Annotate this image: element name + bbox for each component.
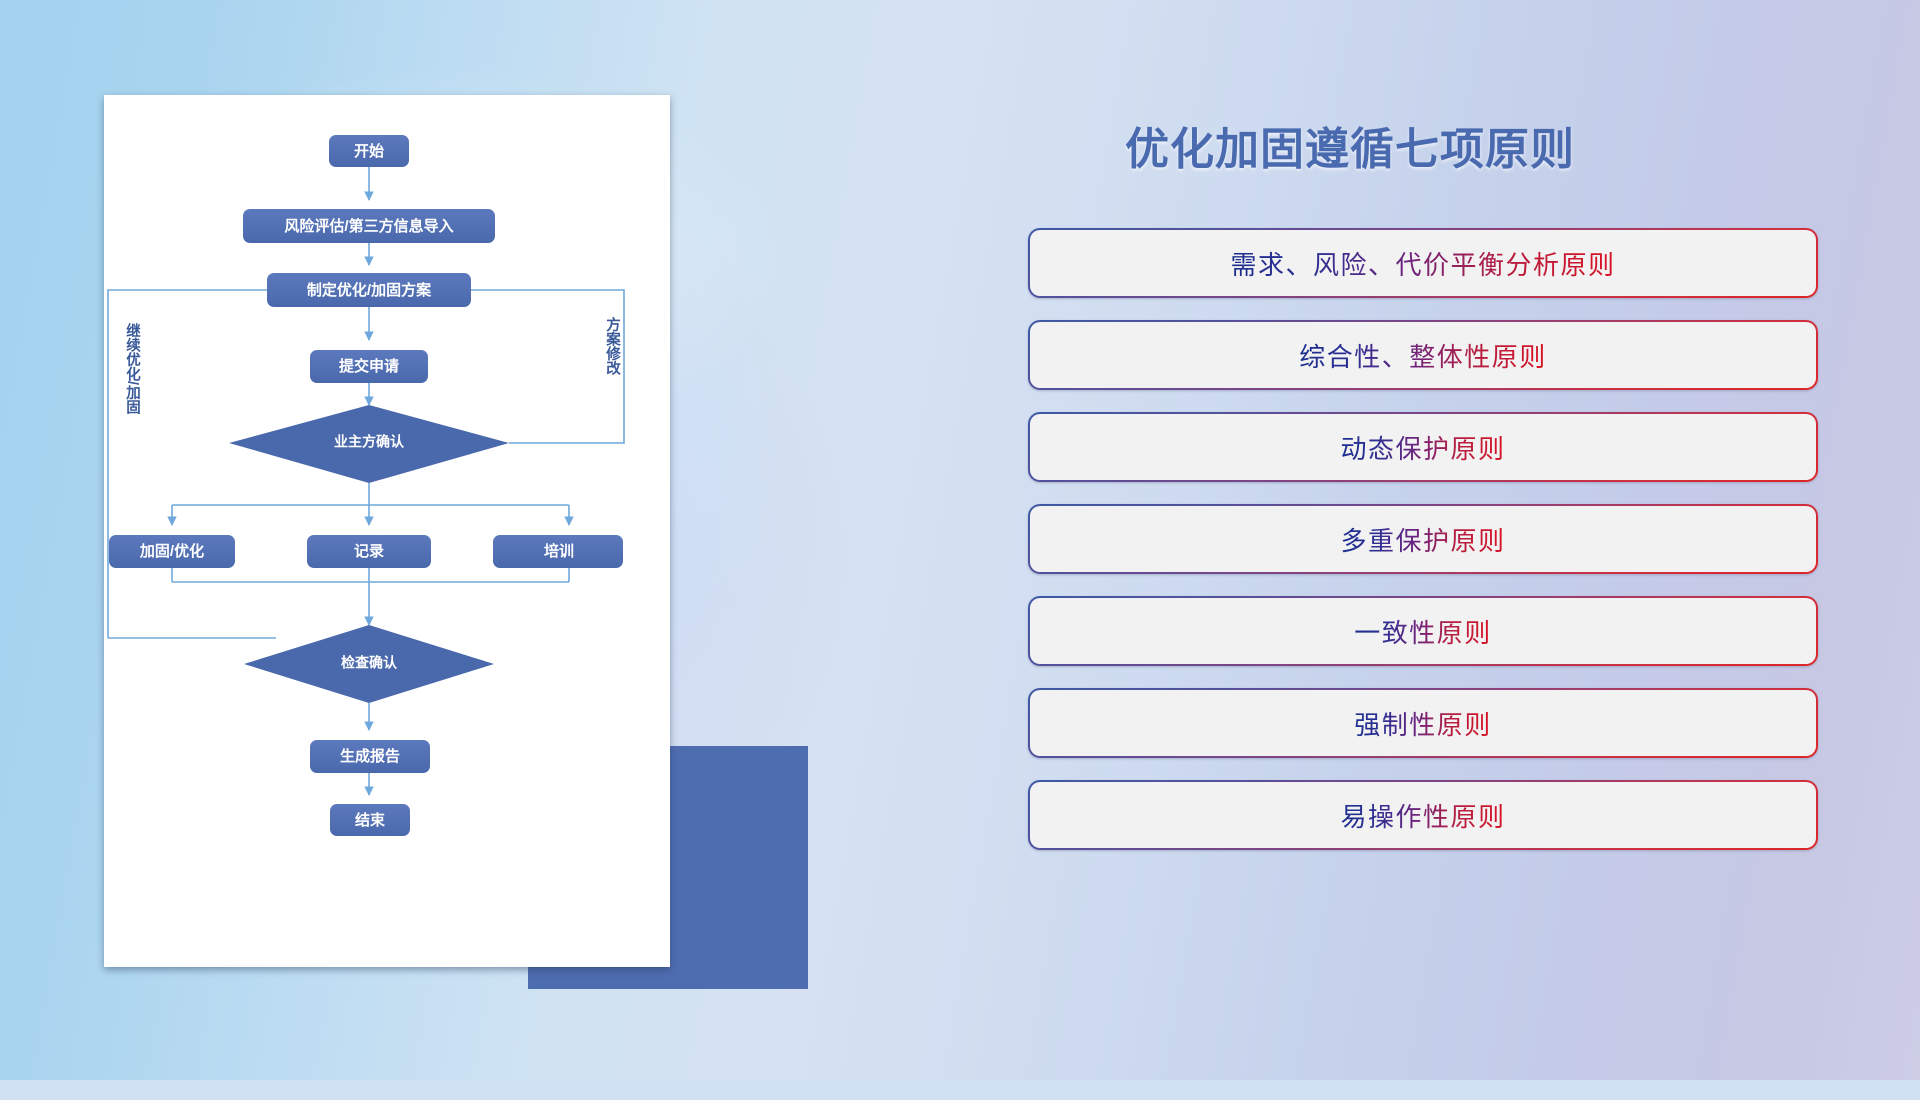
principle-card-inner: 综合性、整体性原则 <box>1030 322 1816 388</box>
flow-node-start[interactable]: 开始 <box>329 135 409 167</box>
flow-edge-label-plan-revision: 方案修改 <box>604 316 621 377</box>
flow-node-check-confirm[interactable]: 检查确认 <box>244 625 494 703</box>
flow-node-risk-assessment-label: 风险评估/第三方信息导入 <box>284 217 453 235</box>
flow-node-owner-confirm[interactable]: 业主方确认 <box>229 405 509 483</box>
principle-card[interactable]: 动态保护原则 <box>1028 412 1818 482</box>
flow-edge-label-continue-optimize: 继续优化/加固 <box>124 322 141 416</box>
flow-node-training-label: 培训 <box>544 542 574 560</box>
flow-node-training[interactable]: 培训 <box>493 535 623 568</box>
principle-card-label: 动态保护原则 <box>1340 429 1505 466</box>
flow-node-owner-confirm-label: 业主方确认 <box>334 434 405 450</box>
flow-node-submit-label: 提交申请 <box>339 357 399 375</box>
principle-card[interactable]: 一致性原则 <box>1028 596 1818 666</box>
principle-card-inner: 易操作性原则 <box>1030 782 1816 848</box>
principle-card-label: 强制性原则 <box>1354 705 1492 742</box>
flow-node-risk-assessment[interactable]: 风险评估/第三方信息导入 <box>243 209 495 243</box>
principle-card-label: 综合性、整体性原则 <box>1299 337 1547 374</box>
principle-card-inner: 需求、风险、代价平衡分析原则 <box>1030 230 1816 296</box>
principle-card-label: 一致性原则 <box>1354 613 1492 650</box>
principle-card-inner: 多重保护原则 <box>1030 506 1816 572</box>
flow-node-end-label: 结束 <box>355 811 386 829</box>
flow-node-report-label: 生成报告 <box>340 747 400 765</box>
flow-node-reinforce-label: 加固/优化 <box>139 542 204 560</box>
principle-card-inner: 一致性原则 <box>1030 598 1816 664</box>
flow-node-reinforce[interactable]: 加固/优化 <box>109 535 235 568</box>
principles-card-list: 需求、风险、代价平衡分析原则 综合性、整体性原则 动态保护原则 多重保护原则 一… <box>1028 228 1818 872</box>
flow-node-submit[interactable]: 提交申请 <box>310 350 428 383</box>
principle-card[interactable]: 强制性原则 <box>1028 688 1818 758</box>
principles-title: 优化加固遵循七项原则 <box>1020 113 1680 177</box>
flow-node-plan[interactable]: 制定优化/加固方案 <box>267 273 471 307</box>
principle-card-inner: 强制性原则 <box>1030 690 1816 756</box>
flowchart-diagram: 开始 风险评估/第三方信息导入 制定优化/加固方案 提交申请 业主方确认 加固/… <box>104 95 670 967</box>
principle-card-inner: 动态保护原则 <box>1030 414 1816 480</box>
principle-card[interactable]: 综合性、整体性原则 <box>1028 320 1818 390</box>
flow-node-record[interactable]: 记录 <box>307 535 431 568</box>
flow-node-end[interactable]: 结束 <box>330 804 410 836</box>
principles-region: 优化加固遵循七项原则 需求、风险、代价平衡分析原则 综合性、整体性原则 动态保护… <box>1020 0 1920 1080</box>
flow-node-check-confirm-label: 检查确认 <box>341 655 398 671</box>
principle-card[interactable]: 易操作性原则 <box>1028 780 1818 850</box>
flowchart-region: 开始 风险评估/第三方信息导入 制定优化/加固方案 提交申请 业主方确认 加固/… <box>0 0 830 1080</box>
principle-card-label: 易操作性原则 <box>1340 797 1505 834</box>
flow-node-start-label: 开始 <box>354 142 384 160</box>
principle-card-label: 需求、风险、代价平衡分析原则 <box>1230 245 1615 282</box>
principle-card-label: 多重保护原则 <box>1340 521 1505 558</box>
principle-card[interactable]: 需求、风险、代价平衡分析原则 <box>1028 228 1818 298</box>
flow-node-record-label: 记录 <box>354 543 384 560</box>
principle-card[interactable]: 多重保护原则 <box>1028 504 1818 574</box>
flow-node-plan-label: 制定优化/加固方案 <box>307 281 432 299</box>
flow-node-report[interactable]: 生成报告 <box>310 740 430 773</box>
